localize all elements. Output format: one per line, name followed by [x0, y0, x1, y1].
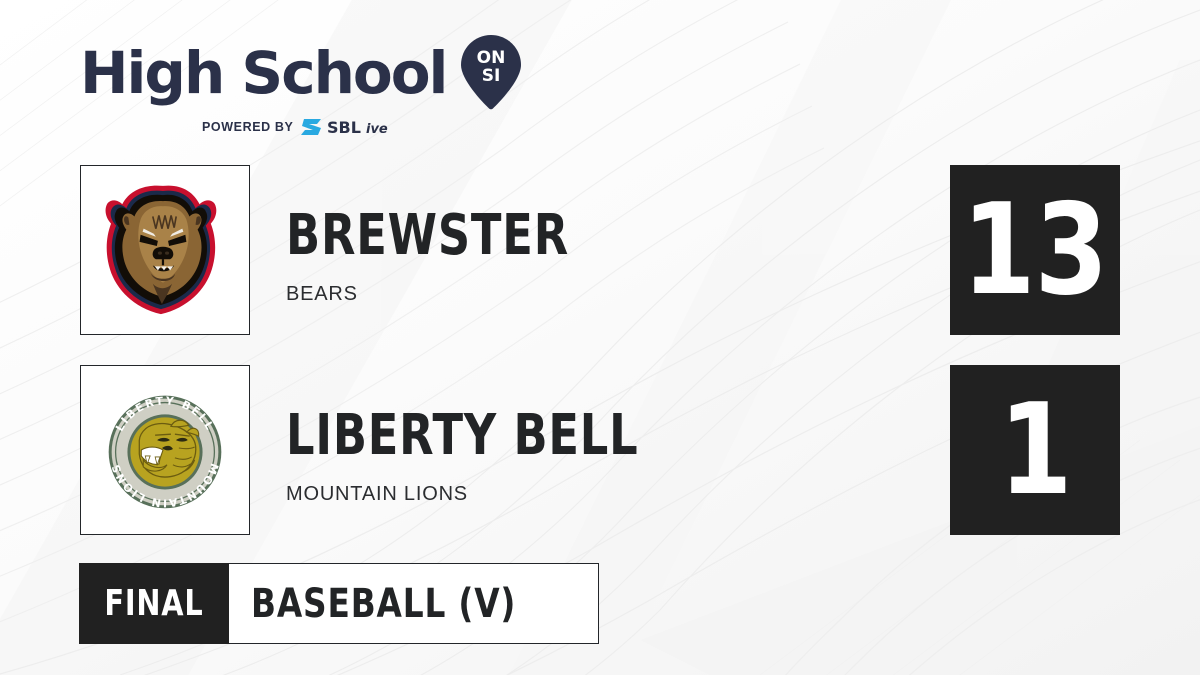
brand-row: High School ON SI	[80, 36, 522, 110]
team-logo-box	[80, 165, 250, 335]
sport-label: BASEBALL (V)	[251, 584, 516, 624]
pin-line-2: SI	[482, 66, 501, 86]
brand-title: High School	[80, 44, 446, 102]
team-logo-box: LIBERTY BELL MOUNTAIN LIONS	[80, 365, 250, 535]
mountain-lion-seal-logo-icon: LIBERTY BELL MOUNTAIN LIONS	[81, 366, 249, 534]
powered-by-label: POWERED BY	[202, 120, 293, 134]
team-score-box: 13	[950, 165, 1120, 335]
sblive-wordmark-suffix: ive	[366, 122, 388, 137]
bear-head-logo-icon	[81, 166, 249, 334]
score-card: High School ON SI POWERED BY SBL ive	[0, 0, 1200, 675]
sblive-logo: SBL ive	[300, 117, 404, 137]
team-mascot: BEARS	[286, 284, 986, 304]
status-state-label: FINAL	[104, 586, 203, 622]
team-score: 1	[999, 387, 1072, 513]
team-score-box: 1	[950, 365, 1120, 535]
team-text: BREWSTER BEARS	[286, 165, 986, 304]
status-badge: FINAL	[79, 563, 229, 644]
team-score: 13	[962, 187, 1108, 313]
team-name: BREWSTER	[286, 208, 846, 264]
team-mascot: MOUNTAIN LIONS	[286, 484, 986, 504]
team-name: LIBERTY BELL	[286, 408, 846, 464]
brand-header: High School ON SI POWERED BY SBL ive	[80, 36, 522, 137]
pin-line-1: ON	[477, 48, 506, 68]
team-text: LIBERTY BELL MOUNTAIN LIONS	[286, 365, 986, 504]
powered-by-row: POWERED BY SBL ive	[202, 117, 522, 137]
sblive-wordmark: SBL	[327, 118, 361, 137]
game-status-bar: FINAL BASEBALL (V)	[79, 563, 599, 644]
sport-label-box: BASEBALL (V)	[229, 563, 599, 644]
on-si-pin-icon: ON SI	[460, 34, 522, 110]
